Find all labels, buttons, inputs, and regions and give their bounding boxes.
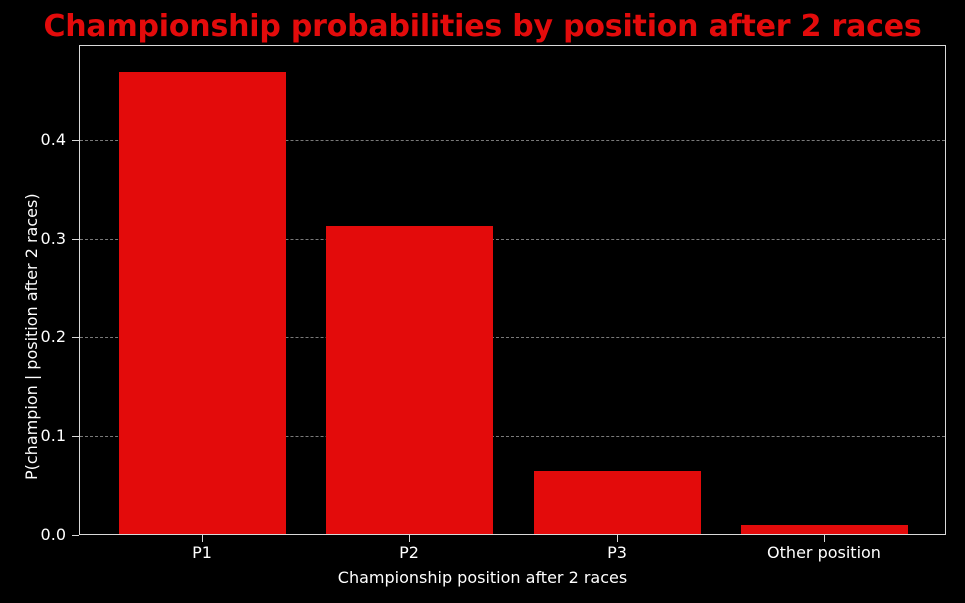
x-tick-label-p1: P1	[192, 544, 212, 562]
y-tick-label-4: 0.4	[0, 132, 66, 148]
y-tick-mark-1	[72, 436, 79, 437]
x-axis-label: Championship position after 2 races	[0, 568, 965, 587]
x-tick-mark-3	[824, 535, 825, 542]
y-tick-mark-3	[72, 239, 79, 240]
y-tick-mark-2	[72, 337, 79, 338]
bar-p2[interactable]	[326, 226, 493, 534]
x-tick-label-p2: P2	[399, 544, 419, 562]
y-tick-label-1: 0.1	[0, 428, 66, 444]
y-tick-label-3: 0.3	[0, 231, 66, 247]
bar-p1[interactable]	[119, 72, 286, 534]
y-tick-label-2: 0.2	[0, 329, 66, 345]
x-tick-label-other-position: Other position	[767, 544, 881, 562]
plot-area	[79, 45, 946, 535]
chart-figure: Championship probabilities by position a…	[0, 0, 965, 603]
bar-p3[interactable]	[534, 471, 701, 534]
chart-title: Championship probabilities by position a…	[0, 9, 965, 44]
x-tick-mark-2	[617, 535, 618, 542]
y-tick-label-0: 0.0	[0, 527, 66, 543]
x-tick-mark-0	[202, 535, 203, 542]
y-tick-mark-0	[72, 535, 79, 536]
x-tick-mark-1	[409, 535, 410, 542]
y-tick-mark-4	[72, 140, 79, 141]
bar-other-position[interactable]	[741, 525, 908, 534]
x-tick-label-p3: P3	[607, 544, 627, 562]
